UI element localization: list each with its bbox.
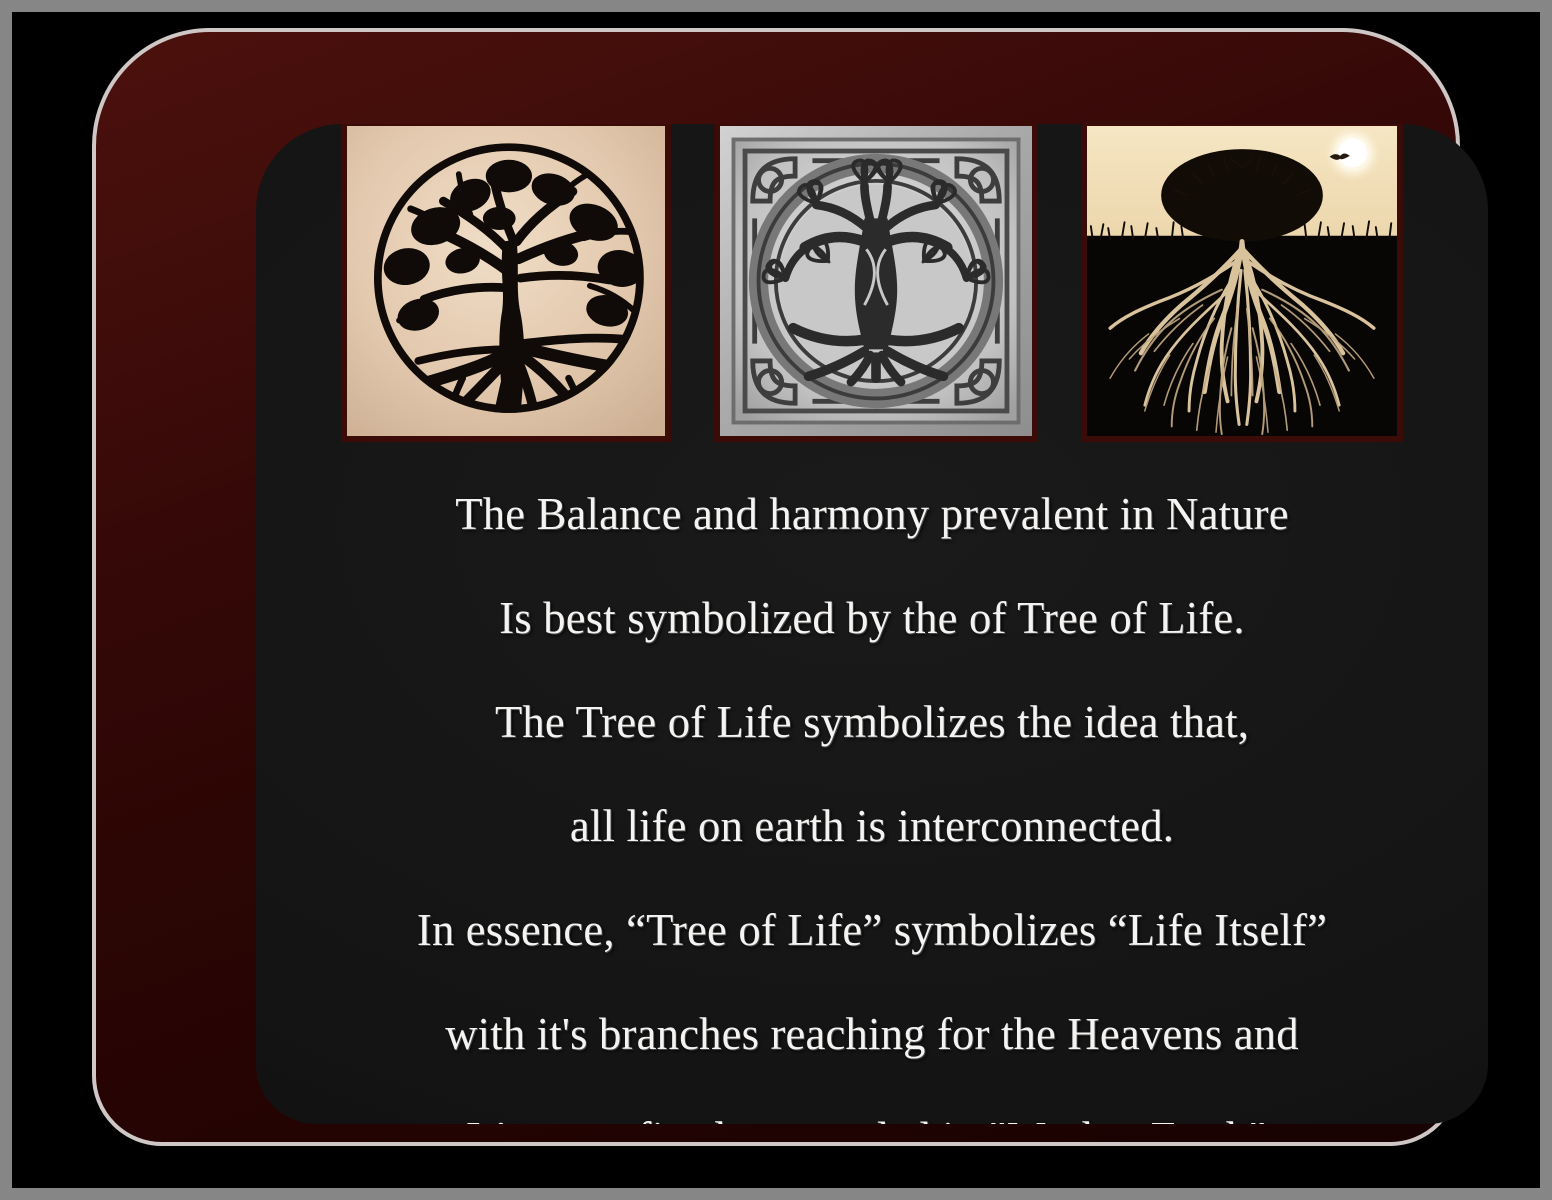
image-strip xyxy=(341,124,1403,450)
quote-line-3: The Tree of Life symbolizes the idea tha… xyxy=(313,670,1430,774)
maroon-frame: The Balance and harmony prevalent in Nat… xyxy=(92,28,1460,1146)
quote-line-6: with it's branches reaching for the Heav… xyxy=(313,982,1430,1086)
inner-black-panel: The Balance and harmony prevalent in Nat… xyxy=(256,124,1488,1124)
quote-line-4: all life on earth is interconnected. xyxy=(313,774,1430,878)
quote-line-5: In essence, “Tree of Life” symbolizes “L… xyxy=(313,878,1430,982)
quote-line-2: Is best symbolized by the of Tree of Lif… xyxy=(313,566,1430,670)
poster-canvas: The Balance and harmony prevalent in Nat… xyxy=(0,0,1552,1200)
quote-line-7: It’s roots firmly grounded in "Mother Ea… xyxy=(313,1086,1430,1124)
image-tree-silhouette-with-roots xyxy=(1081,124,1403,442)
stained-glass-tree-icon xyxy=(720,126,1032,436)
metal-tree-art-icon xyxy=(347,126,665,436)
image-metal-art-circular-tree-of-life xyxy=(341,124,671,442)
tree-roots-silhouette-icon xyxy=(1087,126,1397,436)
quote-line-1: The Balance and harmony prevalent in Nat… xyxy=(313,462,1430,566)
quote-block: The Balance and harmony prevalent in Nat… xyxy=(296,462,1448,1124)
image-stained-glass-celtic-tree-of-life xyxy=(714,124,1038,442)
